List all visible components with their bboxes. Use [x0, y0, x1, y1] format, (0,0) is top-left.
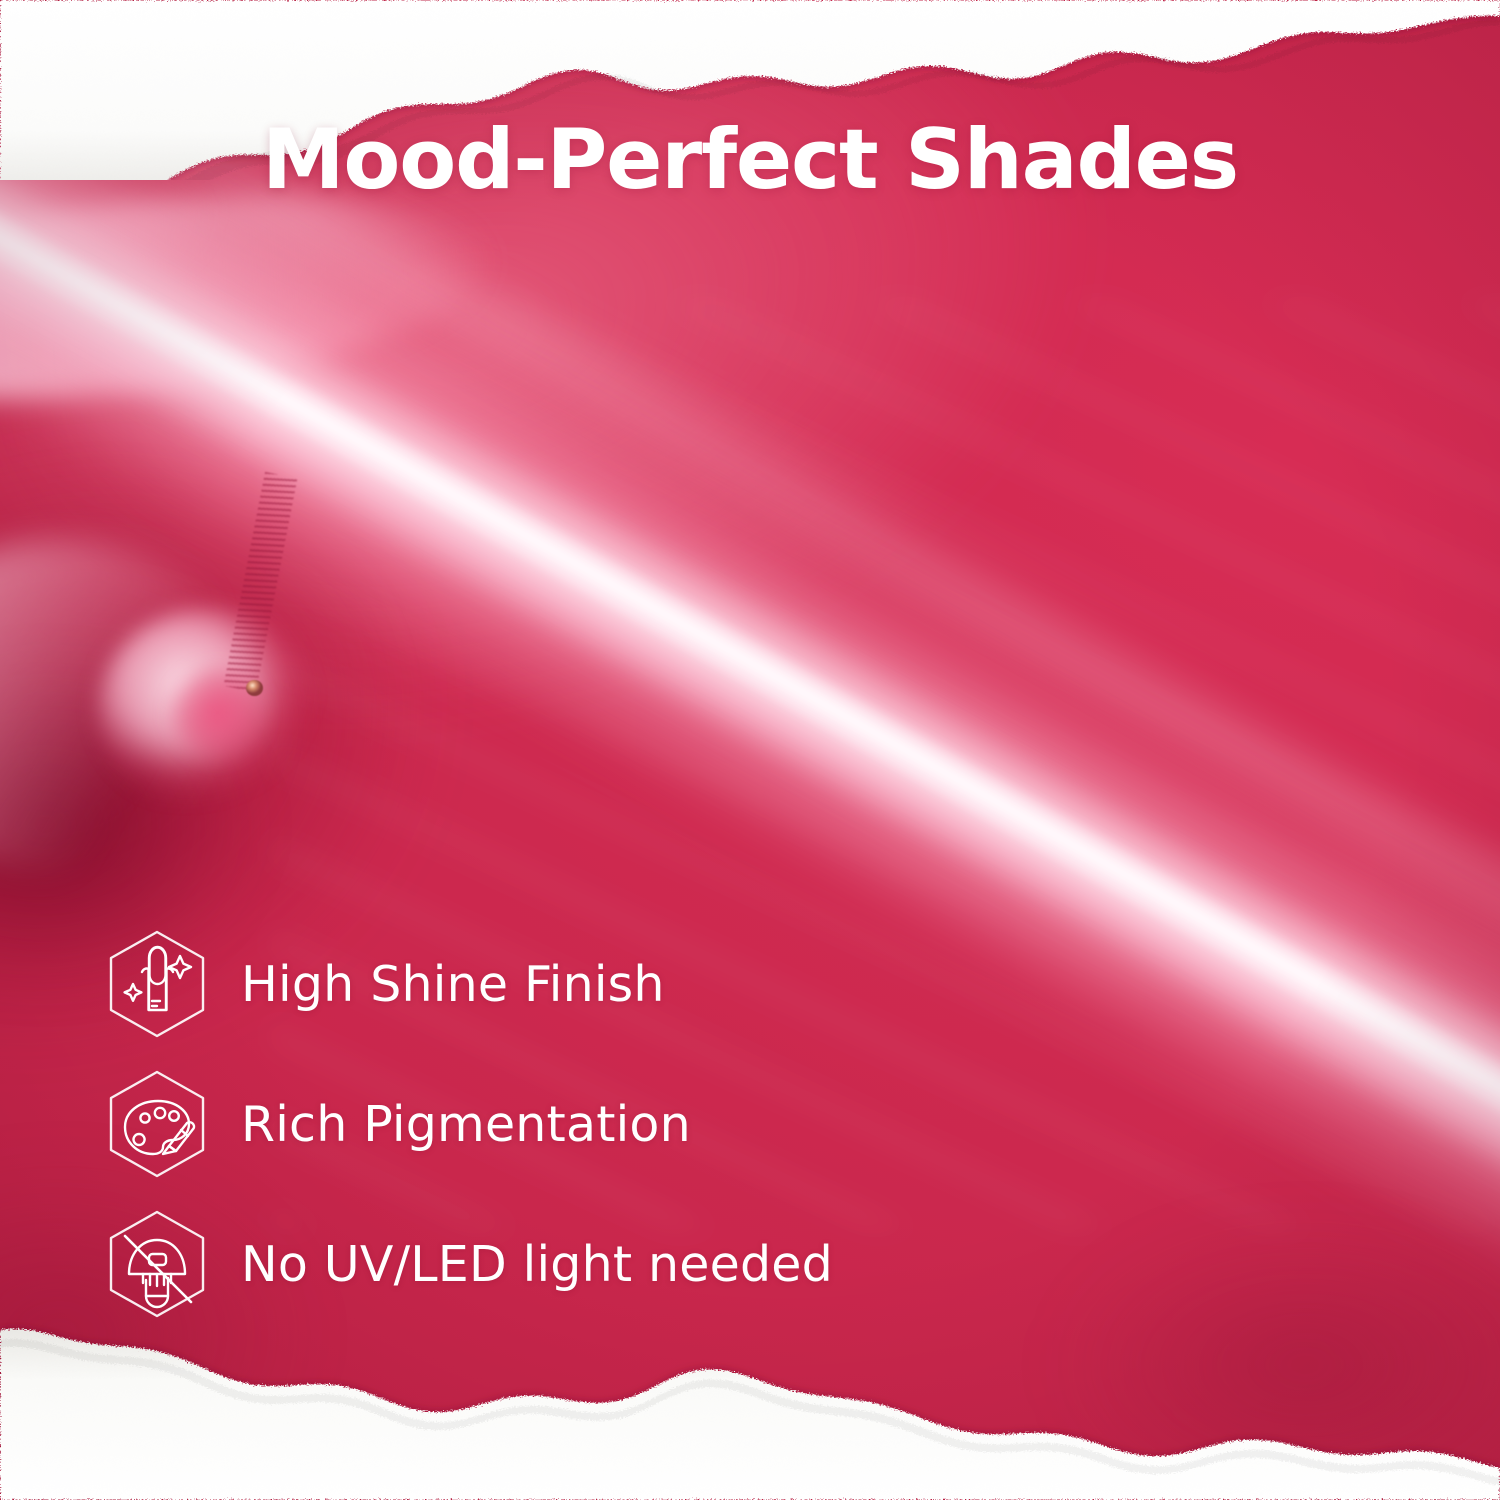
feature-label: No UV/LED light needed	[241, 1236, 833, 1293]
feature-label: High Shine Finish	[241, 956, 665, 1013]
page-title: Mood-Perfect Shades	[0, 118, 1500, 203]
product-feature-banner: Mood-Perfect Shades	[0, 0, 1500, 1500]
paint-palette-icon	[103, 1068, 211, 1180]
no-uv-lamp-icon	[103, 1208, 211, 1320]
feature-row-high-shine: High Shine Finish	[103, 928, 833, 1040]
feature-row-no-uv-led: No UV/LED light needed	[103, 1208, 833, 1320]
feature-list: High Shine Finish	[103, 928, 833, 1320]
nail-sparkle-icon	[103, 928, 211, 1040]
feature-label: Rich Pigmentation	[241, 1096, 691, 1153]
feature-row-rich-pigmentation: Rich Pigmentation	[103, 1068, 833, 1180]
